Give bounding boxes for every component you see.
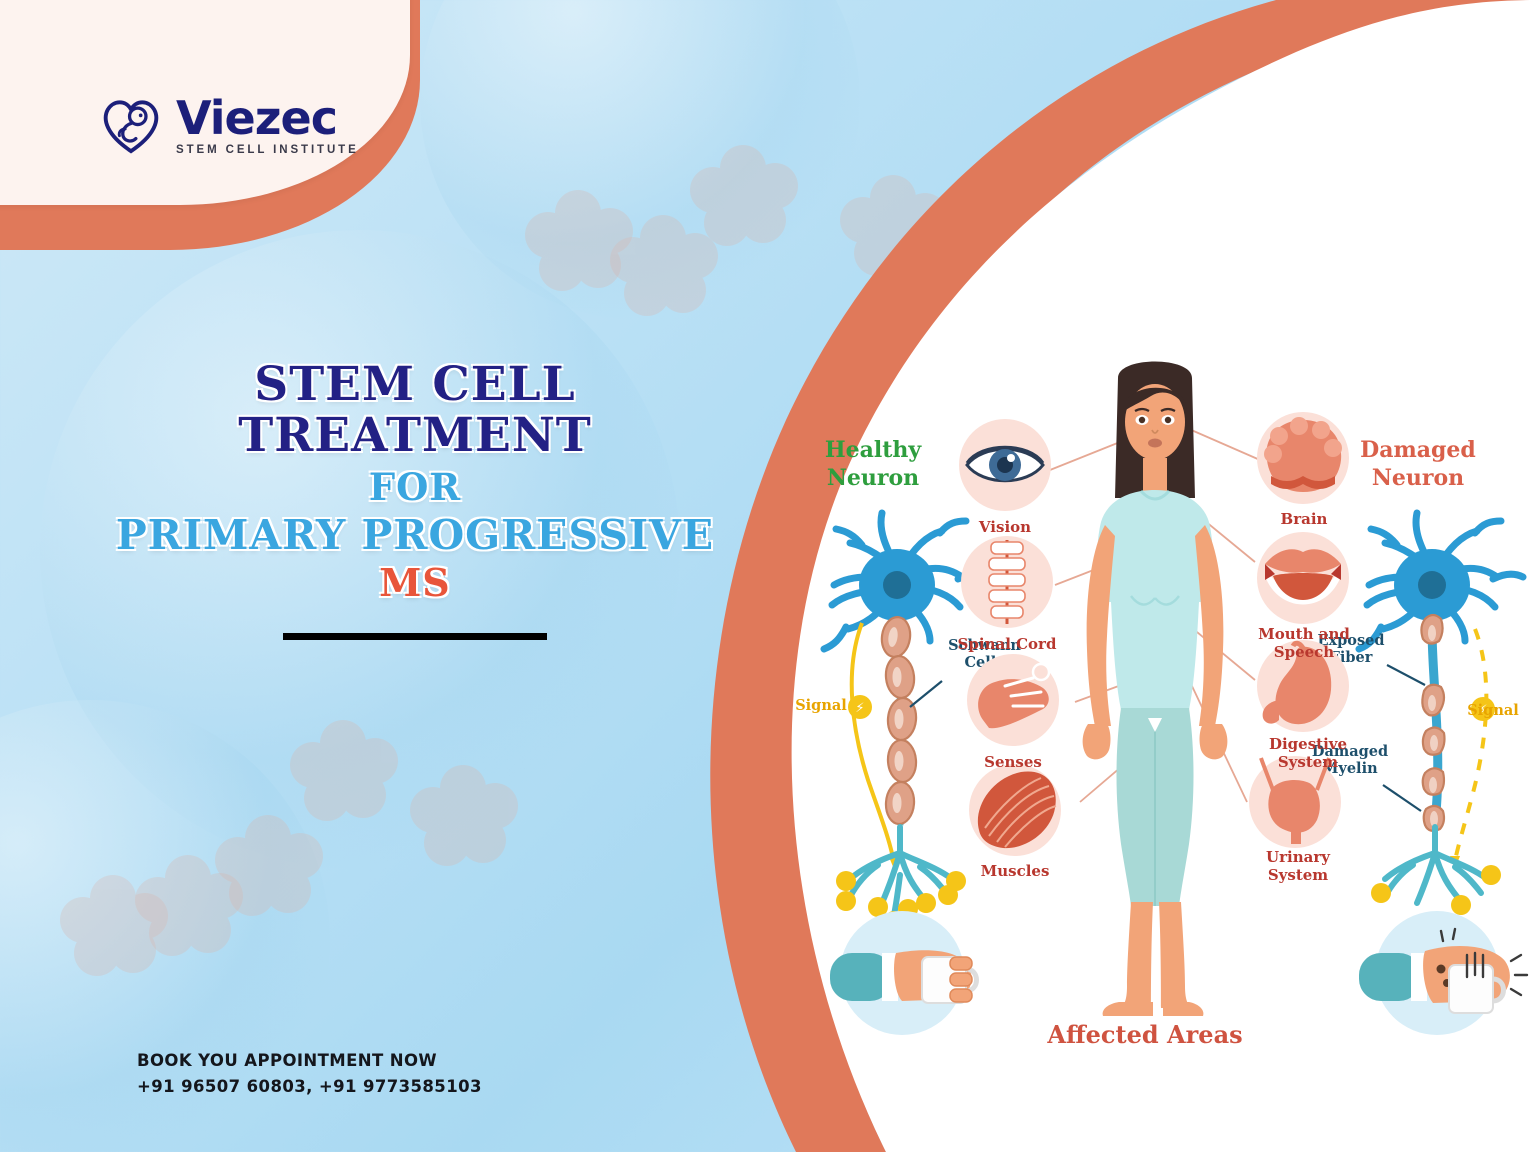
organ-label-senses: Senses — [965, 753, 1061, 771]
damaged-neuron-title-line1: Damaged — [1328, 437, 1508, 465]
contact-cta: BOOK YOU APPOINTMENT NOW — [137, 1048, 482, 1074]
organ-label-spinal-cord: Spinal Cord — [952, 635, 1062, 653]
damaged-neuron-title-line2: Neuron — [1328, 465, 1508, 493]
healthy-neuron-title-line2: Neuron — [788, 465, 958, 493]
organ-icon-brain — [1257, 412, 1349, 504]
contact-phones[interactable]: +91 96507 60803, +91 9773585103 — [137, 1074, 482, 1100]
organ-icon-vision — [959, 419, 1051, 511]
organ-icon-senses — [967, 654, 1059, 746]
headline-line-4: MS — [70, 562, 760, 603]
brand-logo[interactable]: Viezec STEM CELL INSTITUTE — [100, 95, 359, 156]
headline-line-3: PRIMARY PROGRESSIVE — [70, 513, 760, 557]
headline-line-2: FOR — [70, 468, 760, 508]
organ-label-digestive-line2: System — [1248, 753, 1368, 771]
affected-areas-illustration — [955, 350, 1355, 1040]
female-body-figure — [1083, 362, 1228, 1017]
damaged-neuron-title: Damaged Neuron — [1328, 437, 1508, 492]
organ-label-mouth-and-speech: Mouth and Speech — [1240, 625, 1368, 661]
organ-label-vision: Vision — [960, 518, 1050, 536]
brand-name: Viezec — [176, 95, 359, 141]
organ-label-digestive-system: Digestive System — [1248, 735, 1368, 771]
organ-label-urinary-line2: System — [1238, 866, 1358, 884]
damaged-signal-label: Signal — [1460, 702, 1526, 719]
neuron-diagram: Healthy Neuron Damaged Neuron — [760, 340, 1536, 1100]
organ-icon-mouth — [1257, 532, 1349, 624]
organ-label-mouth-line1: Mouth and — [1240, 625, 1368, 643]
affected-areas-title: Affected Areas — [1010, 1020, 1280, 1049]
healthy-signal-label: Signal — [788, 697, 854, 714]
organ-label-brain: Brain — [1256, 510, 1352, 528]
headline-block: STEM CELL TREATMENT FOR PRIMARY PROGRESS… — [70, 360, 760, 640]
headline-line-1: STEM CELL TREATMENT — [70, 360, 760, 462]
organ-label-muscles: Muscles — [967, 862, 1063, 880]
organ-label-mouth-line2: Speech — [1240, 643, 1368, 661]
svg-text:⚡: ⚡ — [855, 701, 864, 716]
organ-icon-muscles — [969, 764, 1061, 856]
brand-tagline: STEM CELL INSTITUTE — [176, 144, 359, 156]
healthy-neuron-title-line1: Healthy — [788, 437, 958, 465]
organ-label-urinary-line1: Urinary — [1238, 848, 1358, 866]
headline-divider — [283, 633, 547, 640]
organ-label-urinary-system: Urinary System — [1238, 848, 1358, 884]
organ-label-digestive-line1: Digestive — [1248, 735, 1368, 753]
organ-icon-spinal-cord — [961, 536, 1053, 628]
contact-block: BOOK YOU APPOINTMENT NOW +91 96507 60803… — [137, 1048, 482, 1101]
healthy-neuron-title: Healthy Neuron — [788, 437, 958, 492]
heart-fetus-icon — [100, 97, 162, 155]
